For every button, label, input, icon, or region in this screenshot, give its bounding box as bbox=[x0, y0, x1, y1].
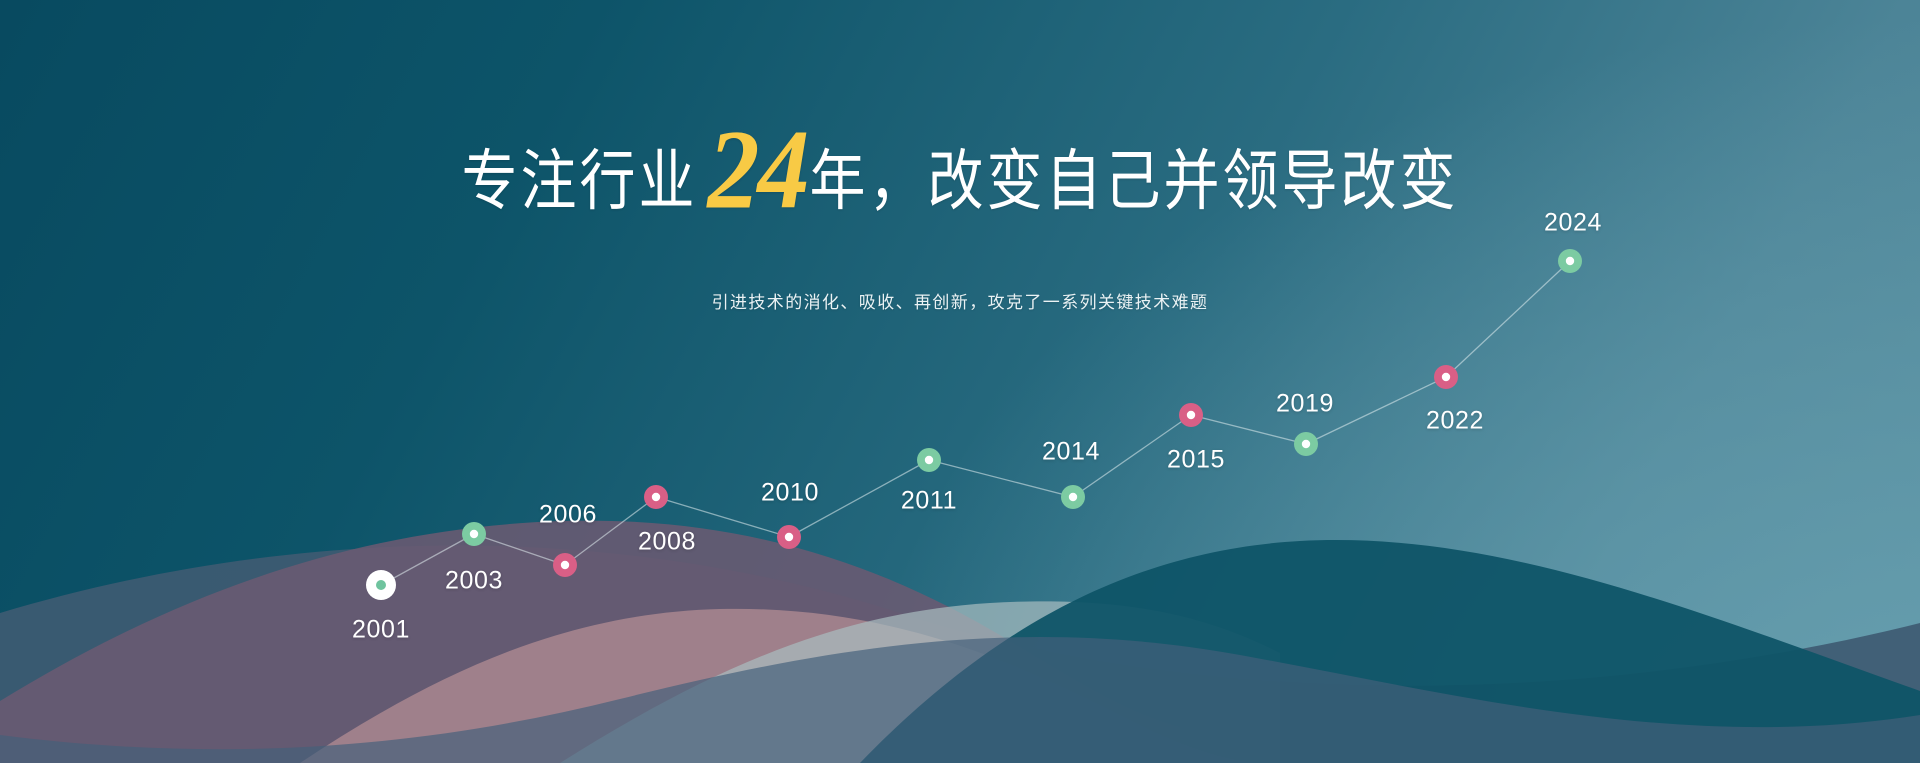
timeline-nodes bbox=[366, 249, 1582, 600]
timeline-node-dot-2006 bbox=[561, 561, 569, 569]
timeline-connector-2011-2014 bbox=[929, 460, 1073, 497]
timeline-node-dot-2010 bbox=[785, 533, 793, 541]
timeline-connector-2014-2015 bbox=[1073, 415, 1191, 497]
timeline-chart bbox=[0, 0, 1920, 763]
timeline-node-dot-2014 bbox=[1069, 493, 1077, 501]
timeline-node-dot-2001 bbox=[376, 580, 386, 590]
timeline-connector-2015-2019 bbox=[1191, 415, 1306, 444]
timeline-node-dot-2022 bbox=[1442, 373, 1450, 381]
timeline-node-dot-2003 bbox=[470, 530, 478, 538]
timeline-connector-2003-2006 bbox=[474, 534, 565, 565]
timeline-node-dot-2015 bbox=[1187, 411, 1195, 419]
timeline-node-dot-2008 bbox=[652, 493, 660, 501]
timeline-connector-2010-2011 bbox=[789, 460, 929, 537]
timeline-node-dot-2011 bbox=[925, 456, 933, 464]
banner-stage: 2001200320062008201020112014201520192022… bbox=[0, 0, 1920, 763]
timeline-node-dot-2024 bbox=[1566, 257, 1574, 265]
timeline-connector-2008-2010 bbox=[656, 497, 789, 537]
timeline-connector-2022-2024 bbox=[1446, 261, 1570, 377]
timeline-connector-2019-2022 bbox=[1306, 377, 1446, 444]
timeline-node-dot-2019 bbox=[1302, 440, 1310, 448]
timeline-connector-2006-2008 bbox=[565, 497, 656, 565]
timeline-connector-2001-2003 bbox=[381, 534, 474, 585]
timeline-connector-lines bbox=[381, 261, 1570, 585]
